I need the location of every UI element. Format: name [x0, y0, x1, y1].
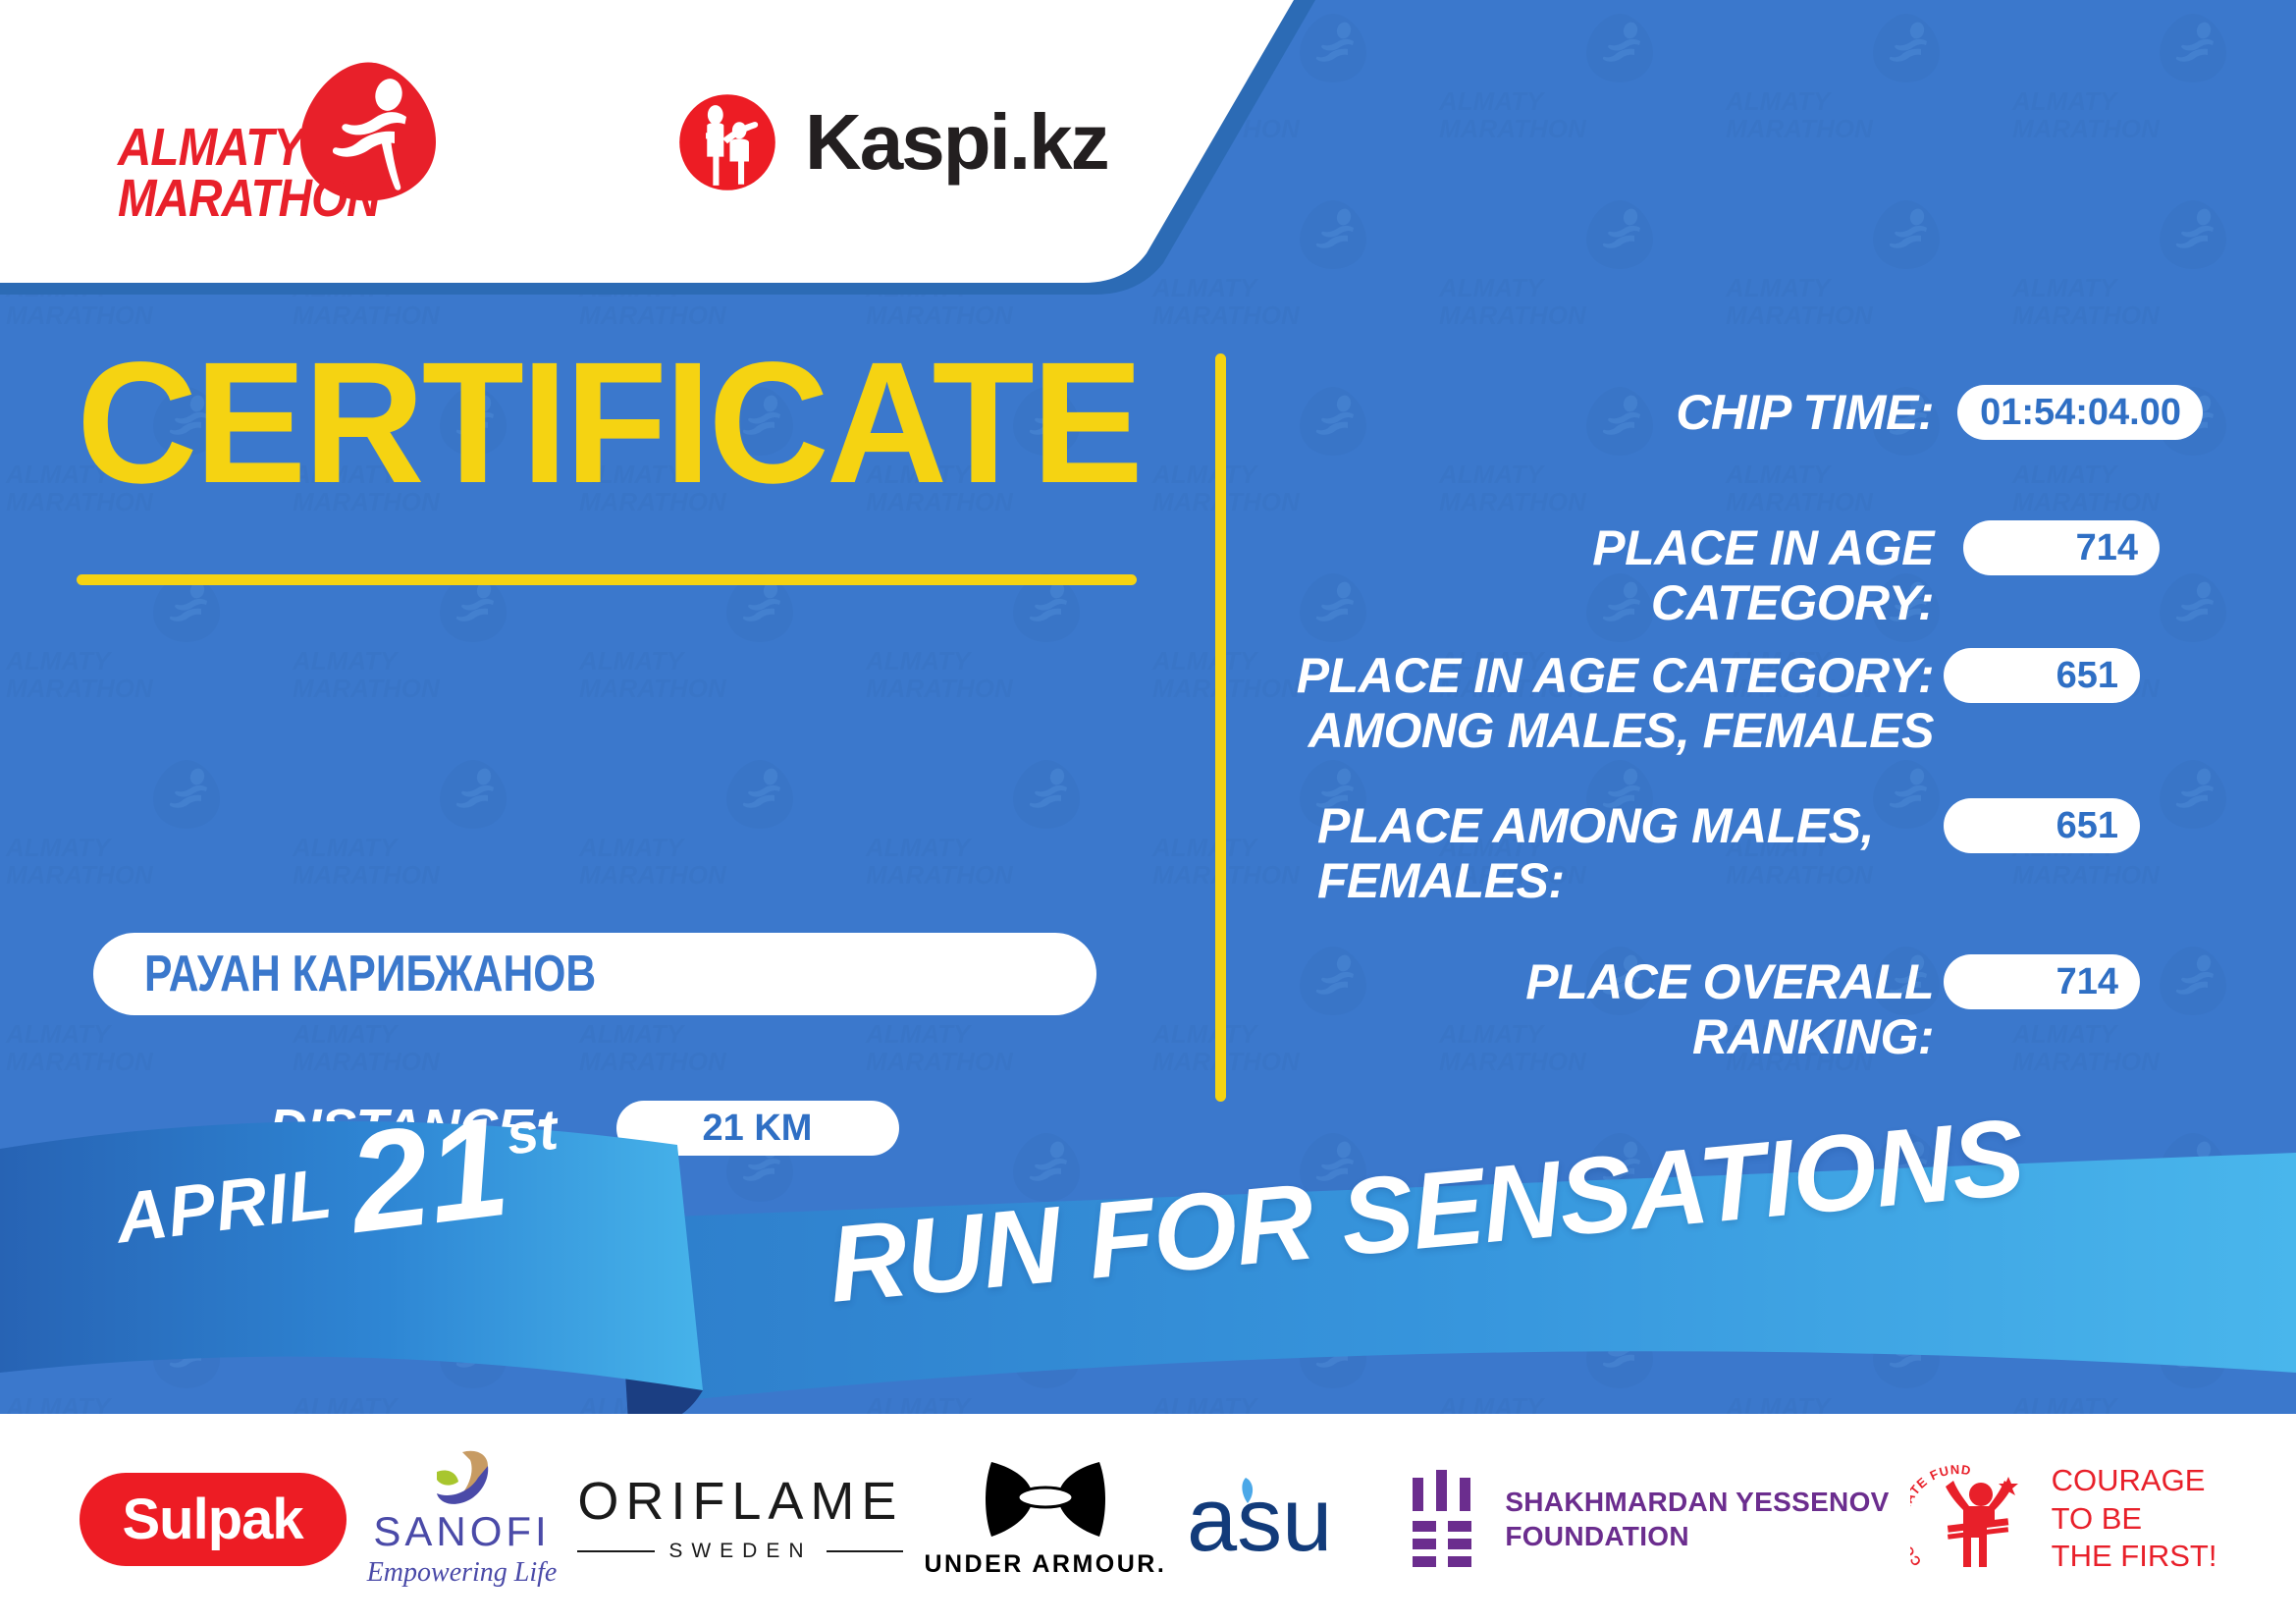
event-month: APRIL	[112, 1154, 337, 1260]
result-row: PLACE IN AGE CATEGORY: AMONG MALES, FEMA…	[1286, 648, 2140, 758]
corporate-fund-logo: CORPORATE FUND COURAGE TO BE THE FIRST!	[1910, 1461, 2217, 1577]
sponsor-asu: asu	[1187, 1455, 1388, 1583]
page-title: CERTIFICATE	[77, 337, 1141, 510]
vertical-divider	[1215, 353, 1226, 1102]
event-day: 21	[344, 1107, 514, 1245]
courage-figure-icon: CORPORATE FUND	[1910, 1461, 2038, 1577]
sponsor-yessenov: SHAKHMARDAN YESSENOV FOUNDATION	[1409, 1455, 1889, 1583]
oriflame-sub: SWEDEN	[577, 1540, 903, 1563]
under-armour-logo: UNDER ARMOUR.	[924, 1460, 1166, 1579]
sponsor-oriflame: ORIFLAME SWEDEN	[577, 1455, 903, 1583]
left-column: CERTIFICATE РАУАН КАРИБЖАНОВ DISTANCE: 2…	[0, 295, 1178, 1178]
almaty-marathon-wordmark: ALMATY MARATHON	[118, 123, 380, 225]
yessenov-mark-icon	[1409, 1470, 1479, 1568]
kaspi-wordmark: Kaspi.kz	[805, 103, 1108, 182]
result-value: 651	[1944, 648, 2140, 703]
participant-name-value: РАУАН КАРИБЖАНОВ	[144, 945, 596, 1003]
svg-text:CORPORATE FUND: CORPORATE FUND	[1910, 1462, 1972, 1569]
header-logo-row: ALMATY MARATHON Kaspi.kz	[0, 0, 1227, 285]
result-label: CHIP TIME:	[1306, 385, 1934, 440]
result-row: CHIP TIME: 01:54:04.00	[1306, 385, 2203, 440]
participant-name-field: РАУАН КАРИБЖАНОВ	[93, 933, 1096, 1015]
title-underline	[77, 574, 1137, 585]
result-value: 01:54:04.00	[1957, 385, 2203, 440]
result-label: PLACE IN AGE CATEGORY: AMONG MALES, FEMA…	[1286, 648, 1934, 758]
under-armour-mark-icon	[982, 1460, 1109, 1543]
result-label: PLACE AMONG MALES, FEMALES:	[1286, 798, 1934, 908]
yessenov-wordmark: SHAKHMARDAN YESSENOV FOUNDATION	[1505, 1485, 1889, 1553]
result-row: PLACE AMONG MALES, FEMALES: 651	[1286, 798, 2140, 908]
sponsor-bar: Sulpak SANOFI Empowering Life ORIFLAME S…	[0, 1414, 2296, 1624]
sponsor-corporate-fund: CORPORATE FUND COURAGE TO BE THE FIRST!	[1910, 1455, 2217, 1583]
kaspi-logo: Kaspi.kz	[667, 82, 1108, 202]
result-row: PLACE OVERALL RANKING: 714	[1286, 954, 2140, 1064]
under-armour-wordmark: UNDER ARMOUR.	[924, 1550, 1166, 1579]
sanofi-wordmark: SANOFI	[373, 1511, 550, 1552]
sanofi-mark-icon	[427, 1450, 498, 1507]
oriflame-rule-right	[827, 1550, 904, 1552]
results-column: CHIP TIME: 01:54:04.00 PLACE IN AGE CATE…	[1266, 295, 2209, 1178]
event-day-suffix: st	[504, 1102, 561, 1164]
sponsor-under-armour: UNDER ARMOUR.	[924, 1455, 1166, 1583]
sulpak-logo: Sulpak	[80, 1473, 347, 1566]
sponsor-sanofi: SANOFI Empowering Life	[367, 1455, 558, 1583]
sanofi-tagline: Empowering Life	[367, 1557, 558, 1589]
result-value: 651	[1944, 798, 2140, 853]
oriflame-tagline: SWEDEN	[668, 1540, 812, 1563]
kaspi-people-circle-icon	[667, 82, 787, 202]
courage-wordmark: COURAGE TO BE THE FIRST!	[2052, 1462, 2217, 1575]
certificate-body: CERTIFICATE РАУАН КАРИБЖАНОВ DISTANCE: 2…	[0, 295, 2296, 1178]
almaty-marathon-logo: ALMATY MARATHON	[118, 54, 442, 231]
svg-text:asu: asu	[1187, 1470, 1332, 1568]
asu-logo: asu	[1187, 1470, 1388, 1568]
oriflame-logo: ORIFLAME SWEDEN	[577, 1475, 903, 1563]
result-row: PLACE IN AGE CATEGORY: 714	[1306, 520, 2160, 630]
sponsor-sulpak: Sulpak	[80, 1455, 347, 1583]
result-value: 714	[1944, 954, 2140, 1009]
sanofi-logo: SANOFI Empowering Life	[367, 1450, 558, 1589]
asu-wordmark-icon: asu	[1187, 1470, 1388, 1568]
oriflame-wordmark: ORIFLAME	[577, 1475, 903, 1528]
result-label: PLACE OVERALL RANKING:	[1286, 954, 1934, 1064]
certificate-page: ALMATY MARATHON Kaspi.kz CERTIFICATE РАУ…	[0, 0, 2296, 1624]
oriflame-rule-left	[577, 1550, 655, 1552]
result-label: PLACE IN AGE CATEGORY:	[1306, 520, 1934, 630]
yessenov-logo: SHAKHMARDAN YESSENOV FOUNDATION	[1409, 1470, 1889, 1568]
result-value: 714	[1963, 520, 2160, 575]
